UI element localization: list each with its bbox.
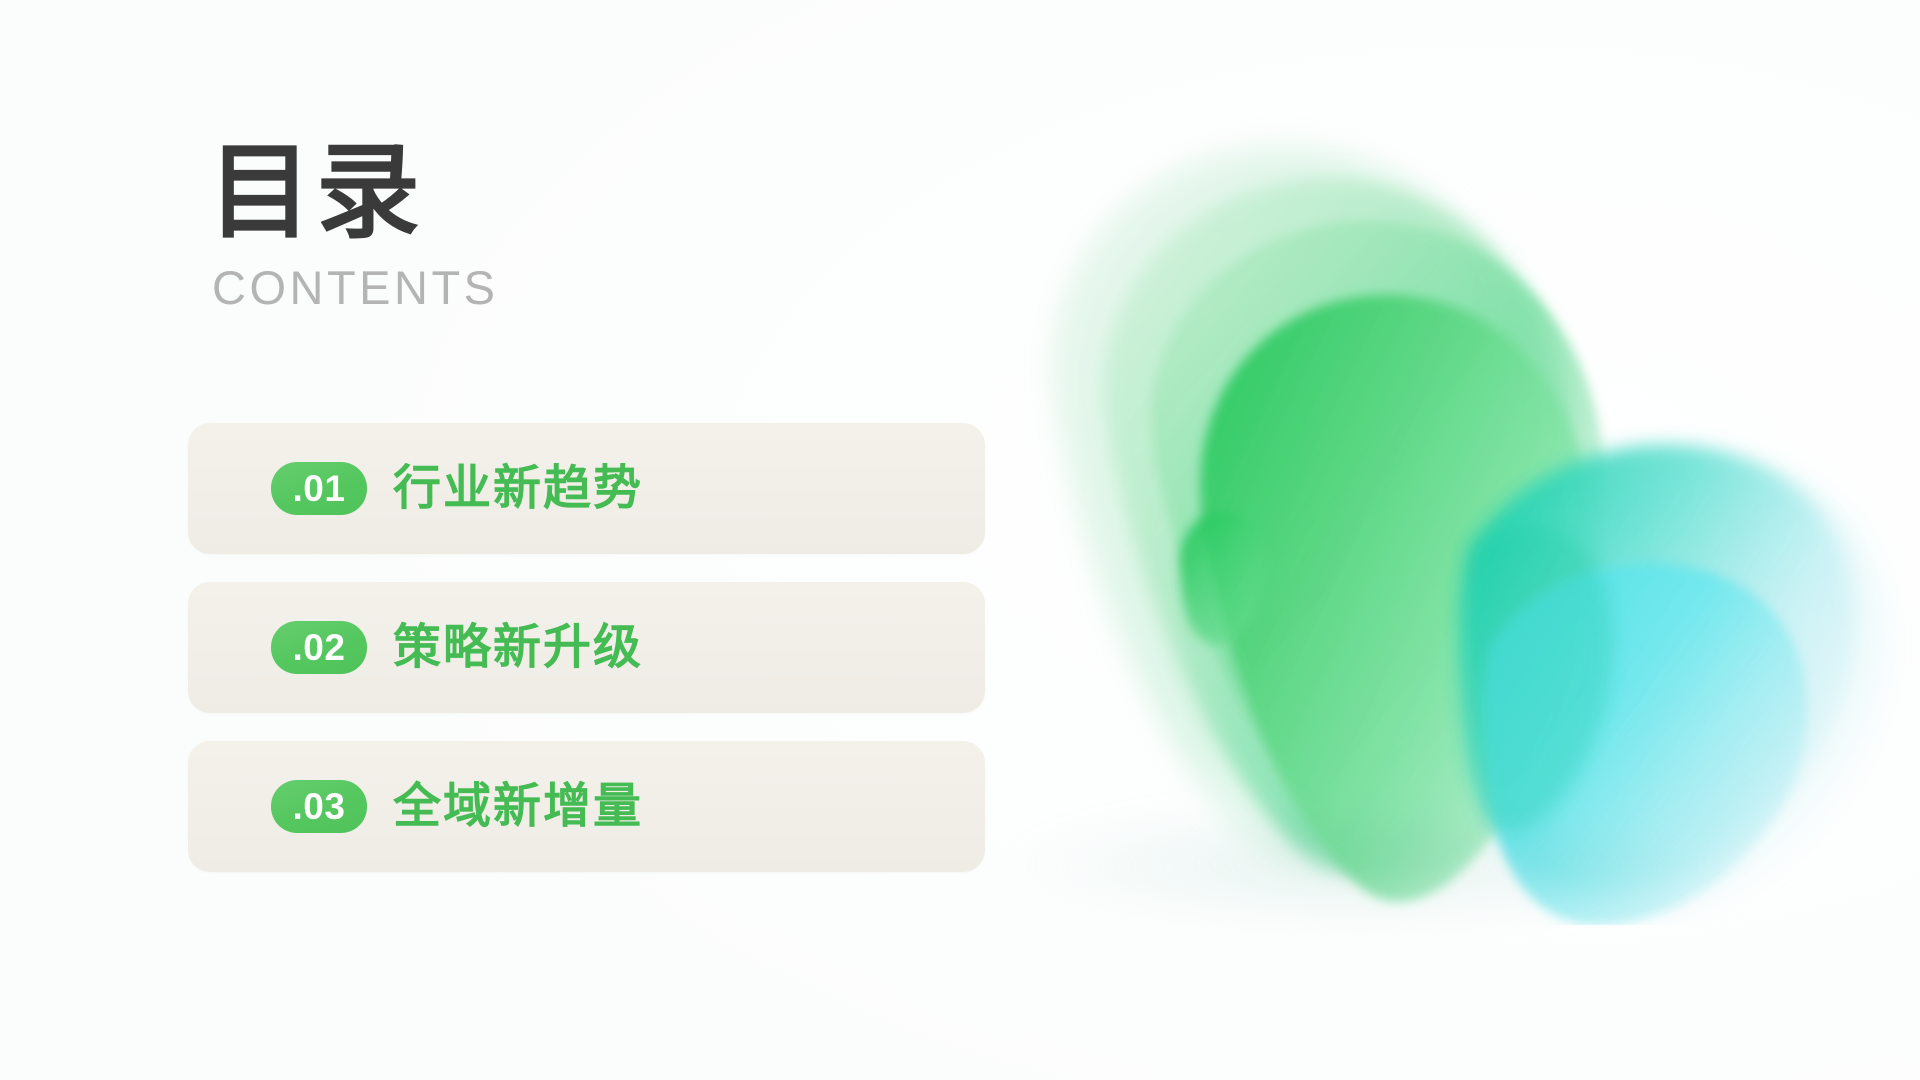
petal-green-outer-2 bbox=[1103, 179, 1573, 875]
page-title: 目录 bbox=[208, 140, 908, 246]
left-content-column: 目录 CONTENTS .01 行业新趋势 .02 策略新升级 .03 全域新增… bbox=[0, 0, 1060, 1080]
table-of-contents-list: .01 行业新趋势 .02 策略新升级 .03 全域新增量 bbox=[188, 423, 985, 872]
petal-green-outer-1 bbox=[1053, 147, 1537, 870]
petal-cyan-outer-1 bbox=[1479, 458, 1885, 920]
petal-overlap-highlight bbox=[1460, 526, 1612, 831]
abstract-heart-petals-icon bbox=[930, 95, 1920, 925]
toc-item-01[interactable]: .01 行业新趋势 bbox=[188, 423, 985, 554]
toc-item-label: 策略新升级 bbox=[393, 624, 643, 672]
toc-item-label: 行业新趋势 bbox=[393, 465, 643, 513]
toc-item-02[interactable]: .02 策略新升级 bbox=[188, 582, 985, 713]
toc-number-badge: .01 bbox=[271, 462, 367, 515]
page-subtitle: CONTENTS bbox=[212, 264, 908, 311]
title-block: 目录 CONTENTS bbox=[208, 140, 908, 311]
petal-cyan-core bbox=[1484, 563, 1807, 925]
petal-green-accent-wedge bbox=[1180, 511, 1265, 645]
toc-number-badge: .02 bbox=[271, 621, 367, 674]
petal-green-outer-3 bbox=[1151, 221, 1605, 882]
toc-number-badge: .03 bbox=[271, 780, 367, 833]
artwork-ground-shadow bbox=[1010, 800, 1710, 930]
petal-teal bbox=[1461, 445, 1854, 894]
toc-item-03[interactable]: .03 全域新增量 bbox=[188, 741, 985, 872]
slide-canvas: 目录 CONTENTS .01 行业新趋势 .02 策略新升级 .03 全域新增… bbox=[0, 0, 1920, 1080]
petal-green-core bbox=[1200, 295, 1590, 902]
toc-item-label: 全域新增量 bbox=[393, 783, 643, 831]
